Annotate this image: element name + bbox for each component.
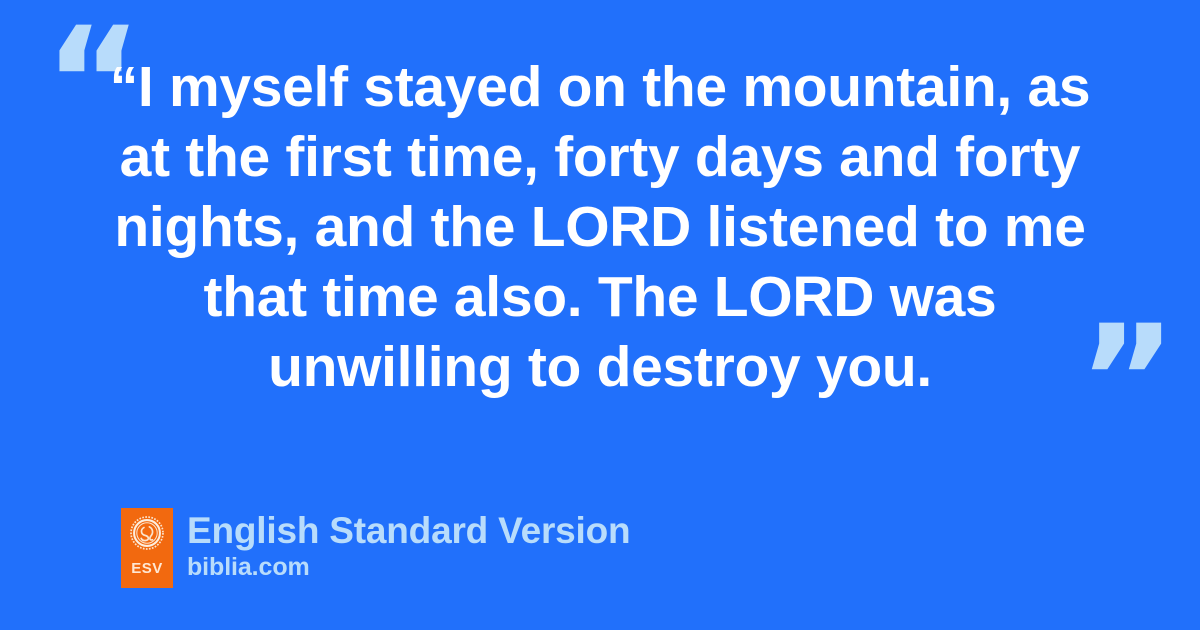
decorative-close-quote-icon: ” — [1078, 306, 1175, 456]
esv-seal-icon — [130, 516, 164, 550]
bible-version-name: English Standard Version — [187, 510, 630, 552]
quote-text: “I myself stayed on the mountain, as at … — [100, 52, 1100, 402]
site-url[interactable]: biblia.com — [187, 553, 630, 582]
esv-logo: ESV — [121, 508, 173, 588]
attribution-text: English Standard Version biblia.com — [187, 508, 630, 582]
quote-card: “ “I myself stayed on the mountain, as a… — [0, 0, 1200, 630]
attribution: ESV English Standard Version biblia.com — [121, 508, 630, 588]
quote-block: “I myself stayed on the mountain, as at … — [100, 52, 1100, 402]
esv-logo-label: ESV — [131, 561, 163, 576]
